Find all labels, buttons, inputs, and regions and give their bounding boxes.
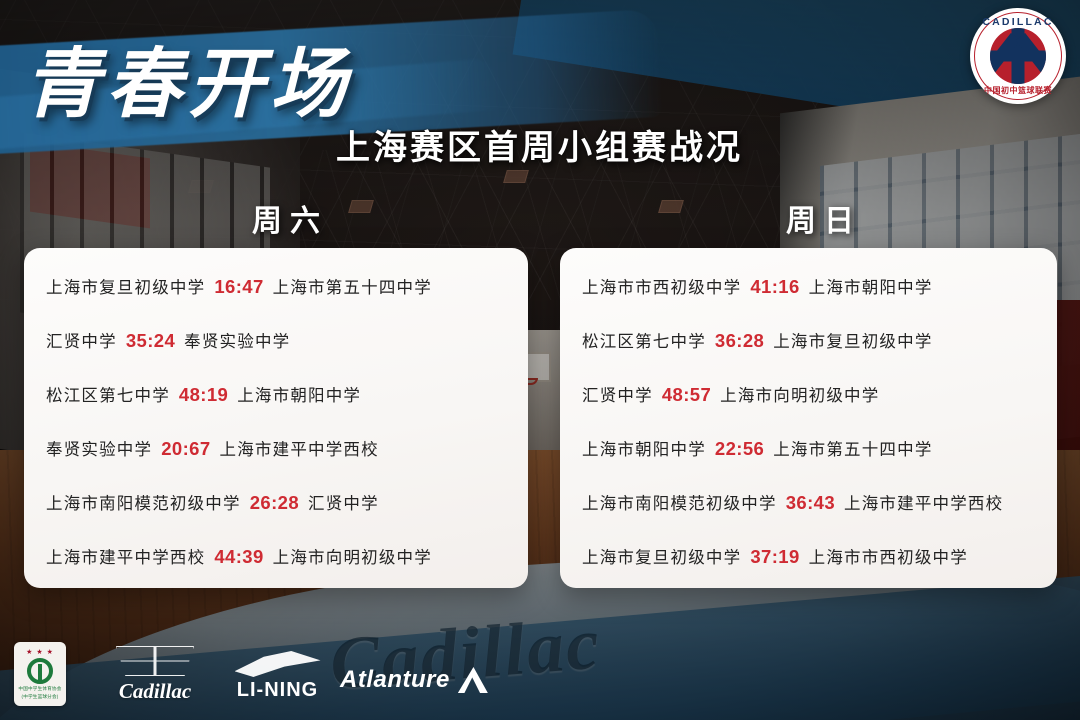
match-score: 37:19 <box>750 546 799 568</box>
sponsor-bar: ★ ★ ★ 中国中学生体育协会 (中学生篮球分会) Cadillac LI-NI… <box>0 630 1080 720</box>
page-title: 青春开场 <box>24 22 352 132</box>
match-score: 35:24 <box>126 330 175 352</box>
page-subtitle: 上海赛区首周小组赛战况 <box>336 120 743 169</box>
cysa-name-line1: 中国中学生体育协会 <box>18 686 61 692</box>
logo-brand-text: CADILLAC <box>970 16 1066 28</box>
match-row: 上海市建平中学西校 44:39 上海市向明初级中学 <box>46 544 506 568</box>
basketball-logo-icon <box>990 28 1046 84</box>
atlanture-wordmark: Atlanture <box>340 666 450 694</box>
match-row: 奉贤实验中学 20:67 上海市建平中学西校 <box>46 436 506 460</box>
home-team: 上海市市西初级中学 <box>582 274 741 298</box>
away-team: 上海市向明初级中学 <box>720 382 879 406</box>
match-row: 上海市南阳模范初级中学 36:43 上海市建平中学西校 <box>582 490 1035 514</box>
match-score: 16:47 <box>214 276 263 298</box>
match-score: 41:16 <box>750 276 799 298</box>
home-team: 上海市南阳模范初级中学 <box>582 490 777 514</box>
cadillac-crest-icon <box>116 646 194 676</box>
match-score: 48:57 <box>662 384 711 406</box>
lining-swoosh-icon <box>235 651 321 677</box>
home-team: 松江区第七中学 <box>46 382 170 406</box>
match-row: 上海市复旦初级中学 37:19 上海市市西初级中学 <box>582 544 1035 568</box>
cysa-logo: ★ ★ ★ 中国中学生体育协会 (中学生篮球分会) <box>14 642 66 706</box>
results-card-sunday: 上海市市西初级中学 41:16 上海市朝阳中学 松江区第七中学 36:28 上海… <box>560 248 1057 588</box>
away-team: 上海市复旦初级中学 <box>773 328 932 352</box>
cysa-stars: ★ ★ ★ <box>26 649 54 656</box>
match-row: 上海市复旦初级中学 16:47 上海市第五十四中学 <box>46 274 506 298</box>
match-row: 汇贤中学 35:24 奉贤实验中学 <box>46 328 506 352</box>
away-team: 上海市第五十四中学 <box>273 274 432 298</box>
home-team: 上海市朝阳中学 <box>582 436 706 460</box>
away-team: 上海市朝阳中学 <box>237 382 361 406</box>
day-heading-sunday: 周日 <box>786 196 862 240</box>
league-logo: CADILLAC 中国初中篮球联赛 <box>970 8 1066 104</box>
match-row: 上海市朝阳中学 22:56 上海市第五十四中学 <box>582 436 1035 460</box>
away-team: 上海市向明初级中学 <box>273 544 432 568</box>
home-team: 奉贤实验中学 <box>46 436 152 460</box>
lining-wordmark: LI-NING <box>215 679 340 702</box>
away-team: 上海市市西初级中学 <box>809 544 968 568</box>
away-team: 汇贤中学 <box>308 490 379 514</box>
match-score: 44:39 <box>214 546 263 568</box>
match-row: 上海市南阳模范初级中学 26:28 汇贤中学 <box>46 490 506 514</box>
match-row: 上海市市西初级中学 41:16 上海市朝阳中学 <box>582 274 1035 298</box>
home-team: 上海市南阳模范初级中学 <box>46 490 241 514</box>
match-score: 20:67 <box>161 438 210 460</box>
away-team: 上海市建平中学西校 <box>844 490 1003 514</box>
match-score: 22:56 <box>715 438 764 460</box>
match-score: 36:28 <box>715 330 764 352</box>
sponsor-atlanture: Atlanture <box>340 666 488 694</box>
home-team: 汇贤中学 <box>582 382 653 406</box>
cadillac-wordmark: Cadillac <box>95 679 215 704</box>
match-row: 汇贤中学 48:57 上海市向明初级中学 <box>582 382 1035 406</box>
day-heading-saturday: 周六 <box>252 196 328 240</box>
poster-root: Cadillac 青春开场 上海赛区首周小组赛战况 CADILLAC 中国初中篮… <box>0 0 1080 720</box>
home-team: 松江区第七中学 <box>582 328 706 352</box>
logo-league-name: 中国初中篮球联赛 <box>970 85 1066 96</box>
sponsor-lining: LI-NING <box>215 651 340 702</box>
away-team: 上海市第五十四中学 <box>773 436 932 460</box>
match-score: 36:43 <box>786 492 835 514</box>
home-team: 汇贤中学 <box>46 328 117 352</box>
away-team: 奉贤实验中学 <box>184 328 290 352</box>
home-team: 上海市复旦初级中学 <box>46 274 205 298</box>
match-row: 松江区第七中学 36:28 上海市复旦初级中学 <box>582 328 1035 352</box>
match-score: 48:19 <box>179 384 228 406</box>
sponsor-cadillac: Cadillac <box>95 646 215 704</box>
home-team: 上海市复旦初级中学 <box>582 544 741 568</box>
cysa-name-line2: (中学生篮球分会) <box>21 694 58 700</box>
match-score: 26:28 <box>250 492 299 514</box>
cysa-emblem-icon <box>27 658 53 684</box>
match-row: 松江区第七中学 48:19 上海市朝阳中学 <box>46 382 506 406</box>
results-card-saturday: 上海市复旦初级中学 16:47 上海市第五十四中学 汇贤中学 35:24 奉贤实… <box>24 248 528 588</box>
away-team: 上海市建平中学西校 <box>220 436 379 460</box>
atlanture-arrow-icon <box>458 667 488 693</box>
away-team: 上海市朝阳中学 <box>809 274 933 298</box>
home-team: 上海市建平中学西校 <box>46 544 205 568</box>
